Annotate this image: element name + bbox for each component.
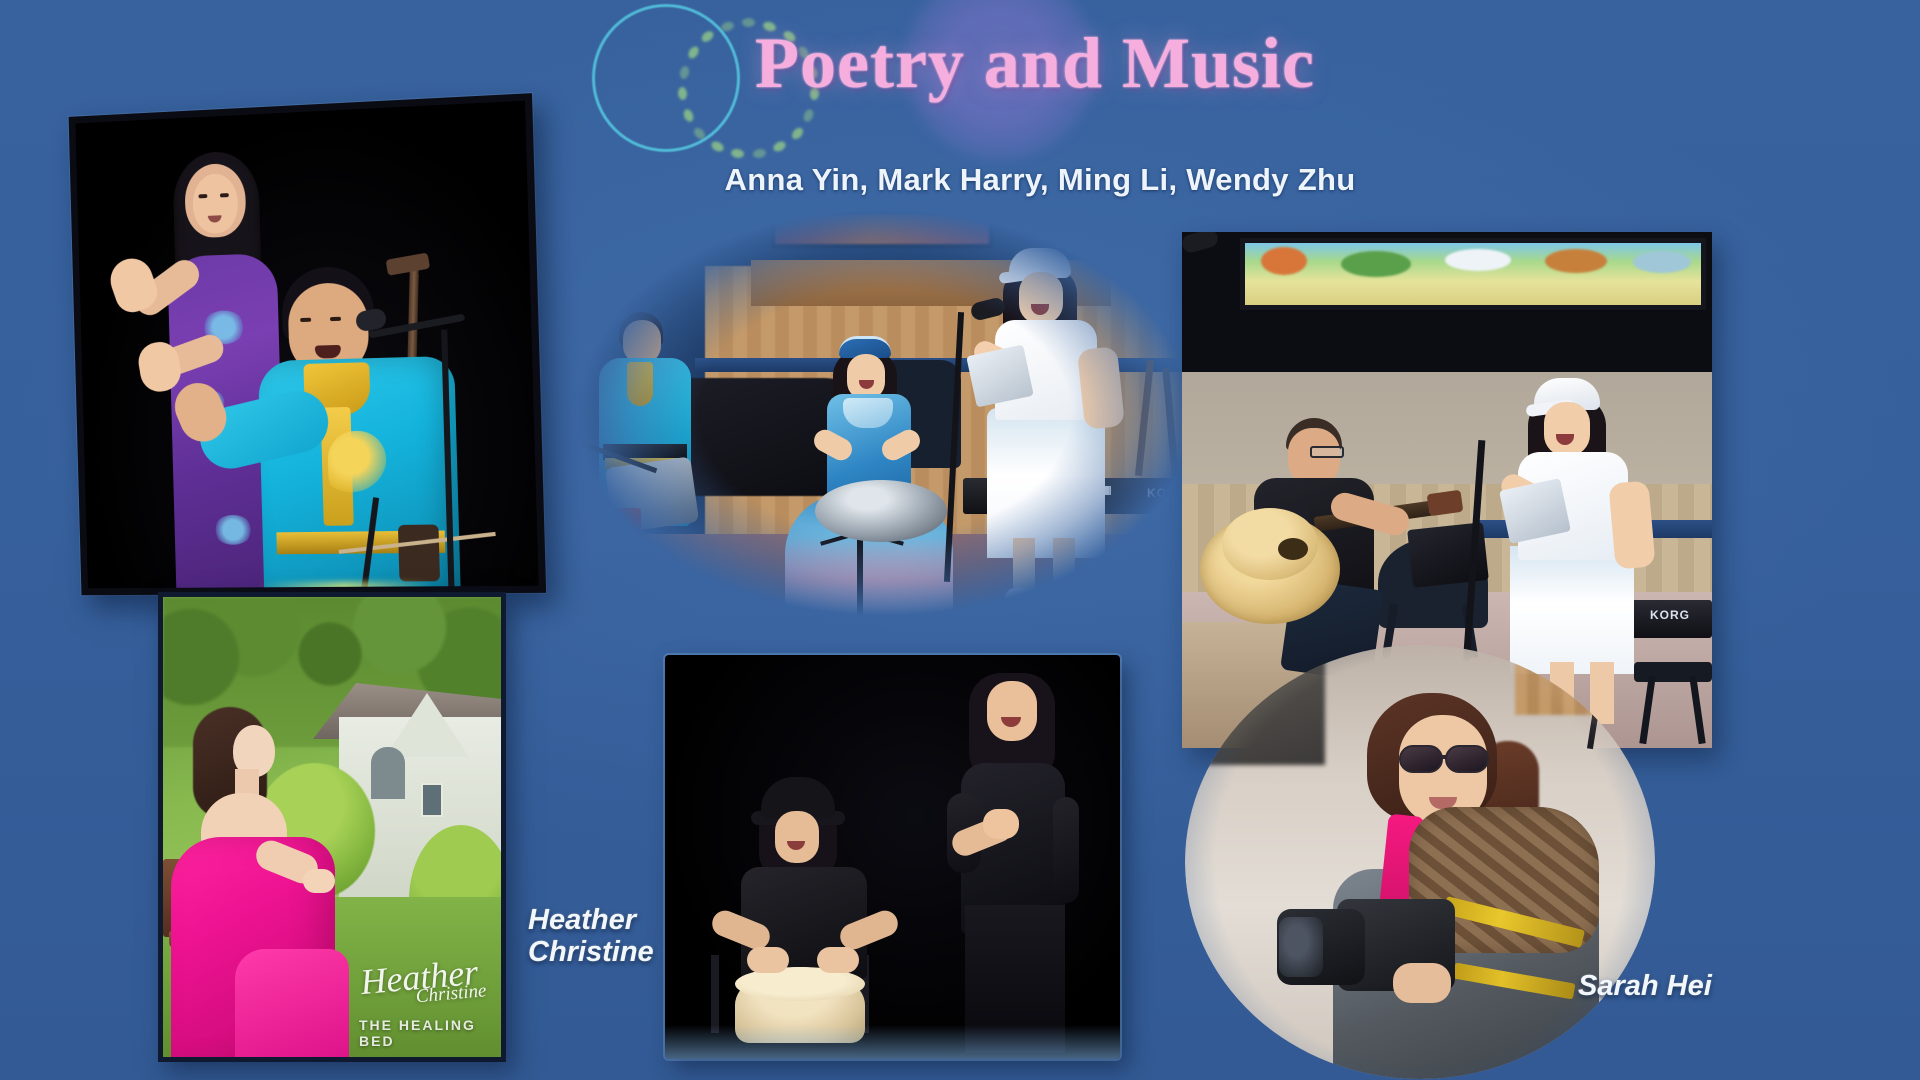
trio-man-gold-sash — [627, 362, 653, 406]
screen-art-tree-a — [1261, 247, 1307, 275]
keyboard-brand-label: KORG — [1147, 486, 1187, 500]
sunglasses-icon — [1399, 745, 1495, 773]
oval-trio-photo: KORG — [575, 208, 1195, 618]
man-eye-left — [300, 318, 311, 322]
handpan-drum — [815, 480, 947, 542]
decoration-dot — [709, 139, 725, 153]
performer-names-text: Anna Yin, Mark Harry, Ming Li, Wendy Zhu — [725, 162, 1356, 198]
screen-art-tree-c — [1545, 249, 1607, 273]
keyboard-brand-label: KORG — [1650, 608, 1690, 622]
photo-script-overlay: Heather Christine — [359, 949, 504, 1023]
black-stage-duo-photo — [665, 655, 1120, 1059]
decoration-dot — [730, 148, 744, 159]
page-title-text: Poetry and Music — [755, 22, 1315, 105]
garden-portrait-photo: Heather Christine THE HEALING BED — [158, 592, 506, 1062]
magenta-gown-train — [235, 949, 349, 1062]
page-title: Poetry and Music — [0, 22, 1920, 105]
trio-singer-face — [1019, 272, 1063, 324]
decoration-dot — [772, 139, 788, 153]
man-robe-motif — [327, 430, 387, 503]
decoration-dot — [802, 107, 815, 123]
sunglasses-lens-left — [1399, 745, 1443, 773]
trio-singer-arm-right — [1077, 346, 1125, 430]
trio-singer-shoe-right — [1049, 588, 1083, 612]
decoration-dot — [681, 107, 694, 123]
photographer-photo — [1185, 645, 1655, 1079]
trio-center-collar — [843, 398, 893, 428]
stage-duo-photo — [69, 93, 547, 595]
house-window — [421, 783, 443, 817]
portrait-hand — [303, 869, 335, 893]
projection-screen — [771, 210, 993, 248]
man-eye-right — [330, 317, 341, 321]
photographer-hand — [1393, 963, 1451, 1003]
singer-face — [1544, 402, 1590, 456]
background-stool — [1583, 683, 1645, 701]
reciter-hand-on-chest — [983, 809, 1019, 839]
caption-sarah-hei: Sarah Hei — [1578, 970, 1712, 1002]
screen-art-sky — [1633, 251, 1691, 273]
drummer-face — [775, 811, 819, 863]
erhu-body — [398, 524, 440, 581]
drummer-hand-right — [817, 947, 859, 973]
slide-canvas: Poetry and Music Anna Yin, Mark Harry, M… — [0, 0, 1920, 1080]
caption-heather-line2: Christine — [528, 936, 654, 968]
reciter-arm-right — [1053, 797, 1079, 903]
background-wood-wall — [1515, 645, 1655, 715]
photo-overlay-subtitle: THE HEALING BED — [359, 1017, 501, 1049]
screen-art-tree-b — [1341, 251, 1411, 277]
trio-singer-shoe-left — [1005, 588, 1039, 612]
handpan-stand — [857, 528, 863, 616]
reciter-face — [987, 681, 1037, 741]
trio-singer-skirt — [987, 408, 1105, 558]
background-shadow — [1185, 645, 1325, 765]
woman-eye-right — [220, 193, 229, 197]
house-door — [371, 747, 405, 799]
decoration-dot — [789, 125, 804, 141]
guitar-headstock — [1427, 490, 1464, 517]
glasses-icon — [1310, 446, 1344, 458]
drummer-chair-left — [711, 955, 719, 1033]
stage-reflection — [665, 1025, 1120, 1059]
camera-lens-glass — [1279, 917, 1323, 977]
screen-art-cloud — [1445, 249, 1511, 271]
decoration-dot — [752, 148, 766, 159]
trio-man-tassel — [615, 508, 641, 548]
caption-heather-christine: Heather Christine — [528, 904, 654, 969]
caption-heather-line1: Heather — [528, 904, 654, 936]
projection-screen — [1240, 238, 1706, 310]
drummer-hand-left — [747, 947, 789, 973]
sunglasses-lens-right — [1445, 745, 1489, 773]
singer-arm-right — [1608, 480, 1655, 569]
woman-eye-left — [199, 194, 208, 198]
guitar-soundhole — [1278, 538, 1308, 560]
decoration-dot — [692, 125, 707, 141]
